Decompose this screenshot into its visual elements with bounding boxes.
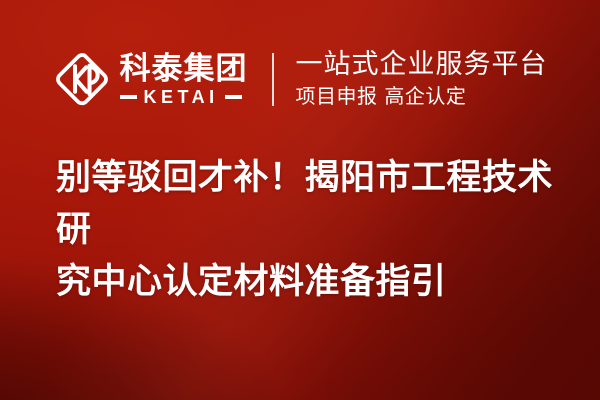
brand-divider-line: [272, 53, 274, 106]
tagline-secondary: 项目申报 高企认定: [296, 84, 548, 109]
brand-lockup[interactable]: 科泰集团 KETAI 一站式企业服务平台 项目申报 高企认定: [53, 43, 548, 115]
banner-title: 别等驳回才补！揭阳市工程技术研 究中心认定材料准备指引: [56, 152, 566, 308]
brand-dash-left-icon: [120, 95, 137, 99]
tagline-primary: 一站式企业服务平台: [296, 49, 548, 81]
brand-name-en: KETAI: [137, 88, 225, 106]
brand-name-en-row: KETAI: [120, 88, 248, 106]
banner-title-line-1: 别等驳回才补！揭阳市工程技术研: [56, 152, 566, 256]
banner-title-line-2: 究中心认定材料准备指引: [56, 256, 566, 308]
brand-name-cn: 科泰集团: [120, 52, 248, 86]
tagline-block: 一站式企业服务平台 项目申报 高企认定: [296, 46, 548, 112]
promo-banner: 科泰集团 KETAI 一站式企业服务平台 项目申报 高企认定 别等驳回才补！揭阳…: [0, 0, 600, 400]
banner-header: 科泰集团 KETAI 一站式企业服务平台 项目申报 高企认定: [0, 38, 600, 120]
brand-dash-right-icon: [225, 95, 242, 99]
ketai-kp-diamond-logo-icon: [53, 50, 111, 108]
brand-wordmark: 科泰集团 KETAI: [120, 48, 248, 110]
